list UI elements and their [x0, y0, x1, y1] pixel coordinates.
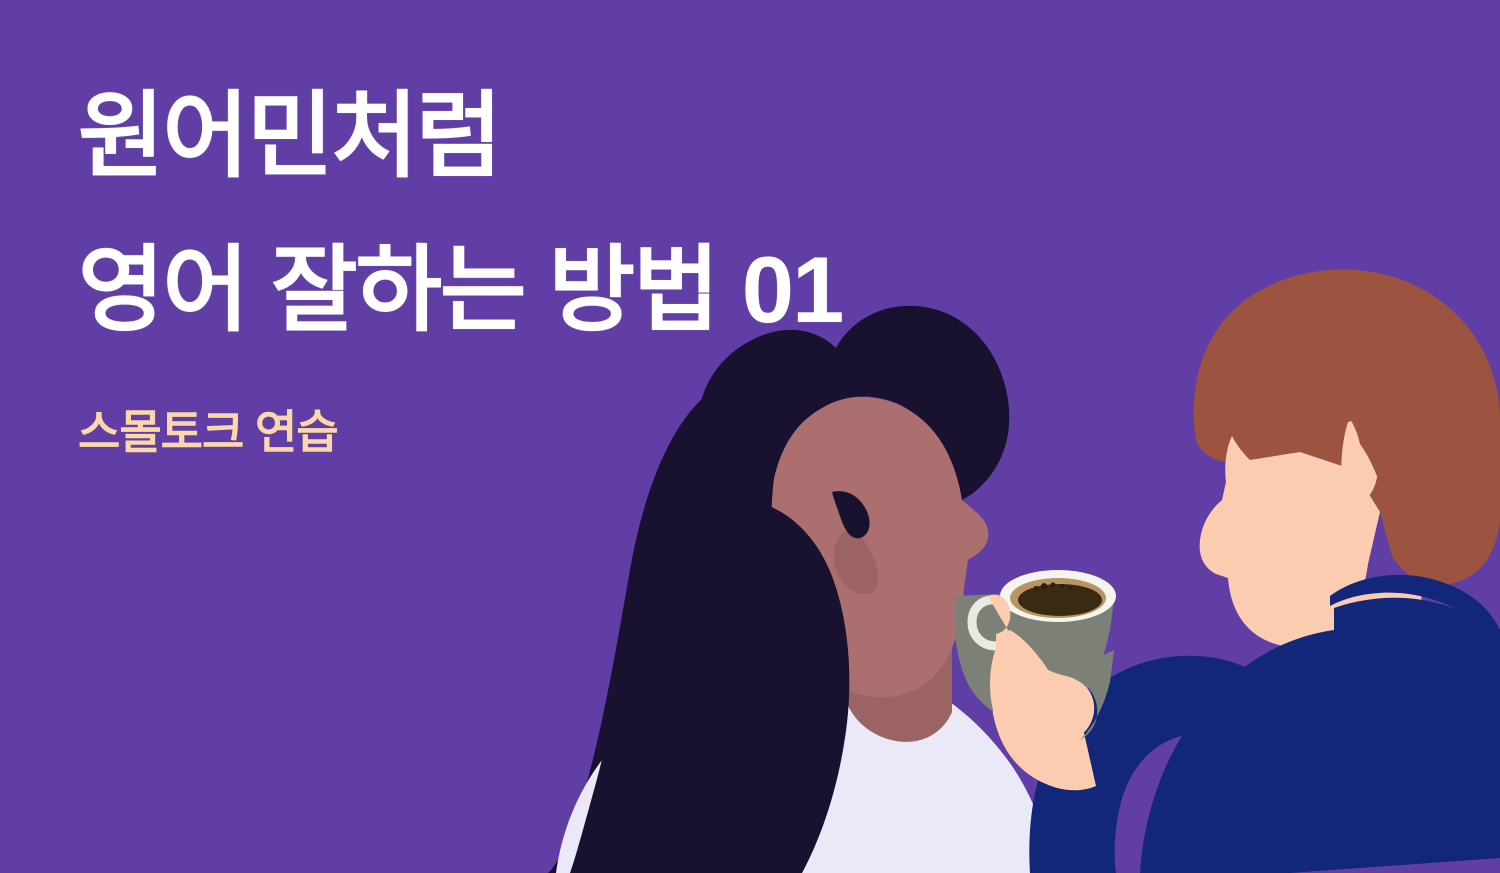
heading-line-2: 영어 잘하는 방법 01 — [78, 234, 978, 346]
coffee-surface — [1018, 584, 1102, 616]
subtitle: 스몰토크 연습 — [78, 404, 978, 460]
text-block: 원어민처럼 영어 잘하는 방법 01 스몰토크 연습 — [78, 80, 978, 460]
heading-line-1: 원어민처럼 — [78, 80, 978, 192]
promo-card: 원어민처럼 영어 잘하는 방법 01 스몰토크 연습 — [0, 0, 1500, 873]
